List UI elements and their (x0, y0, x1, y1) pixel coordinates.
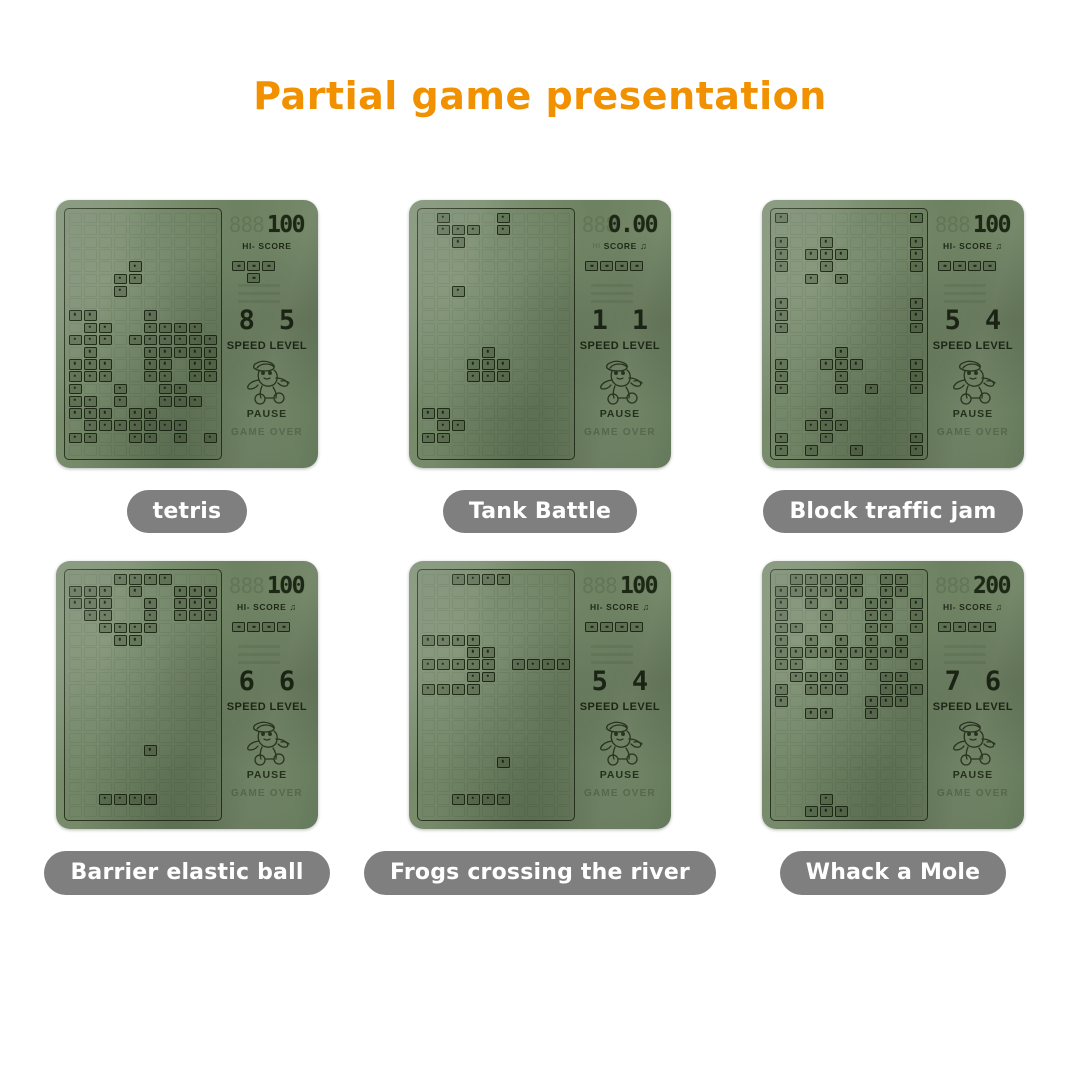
playfield-empty-cell (849, 610, 864, 622)
playfield-empty-cell (541, 408, 556, 420)
playfield-empty-cell (879, 720, 894, 732)
game-caption-pill[interactable]: Barrier elastic ball (44, 851, 329, 894)
handheld-device[interactable]: 888200HI- SCORE♫8786SPEED LEVELPAUSEGAME… (762, 561, 1024, 829)
playfield-empty-cell (864, 285, 879, 297)
playfield[interactable] (417, 569, 575, 821)
playfield-empty-cell (113, 806, 128, 818)
panel-ghost-segments (591, 645, 633, 667)
handheld-device[interactable]: 8880.00HISCORE♫8181SPEED LEVELPAUSEGAME … (409, 200, 671, 468)
playfield-empty-cell (68, 212, 83, 224)
playfield-block (894, 573, 909, 585)
playfield-empty-cell (481, 395, 496, 407)
playfield-empty-cell (879, 659, 894, 671)
playfield-empty-cell (834, 310, 849, 322)
playfield-empty-cell (83, 769, 98, 781)
playfield-empty-cell (421, 573, 436, 585)
score-label-text: HI- SCORE (590, 602, 639, 612)
game-over-indicator: GAME OVER (231, 788, 303, 799)
playfield-block (68, 395, 83, 407)
playfield-block (804, 444, 819, 456)
playfield-empty-cell (789, 634, 804, 646)
playfield-empty-cell (173, 298, 188, 310)
playfield-empty-cell (173, 732, 188, 744)
playfield-empty-cell (451, 249, 466, 261)
playfield-block (143, 334, 158, 346)
playfield-empty-cell (789, 732, 804, 744)
next-piece-block (983, 621, 997, 632)
playfield-block (496, 793, 511, 805)
playfield-empty-cell (879, 732, 894, 744)
handheld-device[interactable]: 888100HI- SCORE♫8584SPEED LEVELPAUSEGAME… (409, 561, 671, 829)
playfield-empty-cell (188, 285, 203, 297)
playfield-block (143, 359, 158, 371)
playfield-block (128, 634, 143, 646)
playfield-block (864, 647, 879, 659)
playfield-empty-cell (83, 273, 98, 285)
playfield-empty-cell (451, 212, 466, 224)
playfield-empty-cell (481, 212, 496, 224)
side-panel: 888100HI- SCORE♫8584SPEED LEVELPAUSEGAME… (928, 206, 1018, 462)
playfield-empty-cell (556, 586, 571, 598)
playfield-block (203, 432, 218, 444)
playfield-empty-cell (909, 708, 924, 720)
playfield-empty-cell (113, 781, 128, 793)
handheld-device[interactable]: 888100HI- SCORE♫8686SPEED LEVELPAUSEGAME… (56, 561, 318, 829)
playfield-empty-cell (511, 444, 526, 456)
playfield-empty-cell (203, 285, 218, 297)
playfield-empty-cell (143, 395, 158, 407)
playfield-block (834, 420, 849, 432)
playfield-empty-cell (128, 310, 143, 322)
level-ghost: 8 (985, 668, 1001, 695)
playfield-empty-cell (481, 744, 496, 756)
playfield-empty-cell (864, 720, 879, 732)
playfield-empty-cell (128, 249, 143, 261)
playfield-block (909, 683, 924, 695)
playfield-empty-cell (466, 322, 481, 334)
playfield-empty-cell (68, 285, 83, 297)
playfield-empty-cell (864, 212, 879, 224)
playfield-block (481, 647, 496, 659)
playfield-empty-cell (436, 322, 451, 334)
playfield-empty-cell (909, 720, 924, 732)
playfield-empty-cell (203, 683, 218, 695)
playfield-empty-cell (511, 273, 526, 285)
playfield-block (173, 383, 188, 395)
playfield-empty-cell (819, 696, 834, 708)
playfield-empty-cell (556, 249, 571, 261)
game-card-0[interactable]: 888100HI- SCORE8885SPEED LEVELPAUSEGAME … (52, 200, 322, 533)
next-piece-empty (600, 272, 614, 283)
panel-ghost-segments (591, 284, 633, 306)
playfield-empty-cell (436, 744, 451, 756)
playfield-empty-cell (556, 683, 571, 695)
playfield-block (909, 444, 924, 456)
playfield-block (909, 310, 924, 322)
playfield-block (128, 432, 143, 444)
playfield-empty-cell (909, 224, 924, 236)
playfield-empty-cell (68, 634, 83, 646)
playfield-empty-cell (879, 212, 894, 224)
pause-indicator: PAUSE (953, 769, 993, 781)
playfield-empty-cell (113, 444, 128, 456)
playfield-empty-cell (556, 744, 571, 756)
next-piece-block (600, 260, 614, 271)
playfield-empty-cell (774, 708, 789, 720)
playfield-empty-cell (203, 310, 218, 322)
playfield-empty-cell (158, 310, 173, 322)
playfield-empty-cell (113, 732, 128, 744)
playfield-empty-cell (466, 346, 481, 358)
playfield-empty-cell (511, 622, 526, 634)
playfield-block (774, 683, 789, 695)
game-caption-pill[interactable]: Frogs crossing the river (364, 851, 716, 894)
playfield-empty-cell (83, 634, 98, 646)
side-panel: 888100HI- SCORE♫8584SPEED LEVELPAUSEGAME… (575, 567, 665, 823)
playfield-empty-cell (819, 212, 834, 224)
playfield-empty-cell (909, 744, 924, 756)
playfield-block (128, 261, 143, 273)
playfield-empty-cell (556, 395, 571, 407)
next-piece-block (600, 621, 614, 632)
playfield-empty-cell (188, 212, 203, 224)
playfield-empty-cell (466, 696, 481, 708)
playfield-block (466, 647, 481, 659)
playfield-empty-cell (83, 261, 98, 273)
playfield-empty-cell (894, 744, 909, 756)
playfield-empty-cell (451, 444, 466, 456)
playfield-empty-cell (113, 249, 128, 261)
playfield-empty-cell (789, 793, 804, 805)
playfield-empty-cell (466, 420, 481, 432)
playfield-block (451, 634, 466, 646)
playfield-block (98, 622, 113, 634)
playfield-empty-cell (541, 298, 556, 310)
playfield-empty-cell (188, 298, 203, 310)
playfield-empty-cell (158, 432, 173, 444)
playfield-empty-cell (541, 598, 556, 610)
game-caption-pill[interactable]: Tank Battle (443, 490, 637, 533)
playfield-block (203, 359, 218, 371)
next-piece-empty (262, 272, 276, 283)
playfield-empty-cell (879, 744, 894, 756)
music-flag-icon: ♫ (995, 241, 1002, 251)
playfield-empty-cell (789, 395, 804, 407)
score-ghost-segments: 888 (935, 574, 970, 598)
speed-level-display: 8584 (933, 307, 1013, 334)
playfield-block (173, 346, 188, 358)
playfield-block (864, 634, 879, 646)
playfield-empty-cell (451, 322, 466, 334)
playfield-empty-cell (128, 757, 143, 769)
playfield[interactable] (64, 208, 222, 460)
playfield-empty-cell (496, 659, 511, 671)
playfield-empty-cell (864, 781, 879, 793)
playfield-empty-cell (496, 420, 511, 432)
game-card-2[interactable]: 888100HI- SCORE♫8584SPEED LEVELPAUSEGAME… (758, 200, 1028, 533)
playfield-empty-cell (849, 420, 864, 432)
playfield-block (128, 586, 143, 598)
playfield-empty-cell (804, 371, 819, 383)
playfield-empty-cell (173, 634, 188, 646)
playfield-empty-cell (158, 659, 173, 671)
playfield-empty-cell (188, 249, 203, 261)
playfield-empty-cell (789, 261, 804, 273)
playfield-empty-cell (496, 334, 511, 346)
playfield-empty-cell (98, 806, 113, 818)
playfield-empty-cell (421, 696, 436, 708)
playfield-empty-cell (188, 383, 203, 395)
playfield-block (819, 708, 834, 720)
playfield-empty-cell (511, 744, 526, 756)
playfield-empty-cell (541, 432, 556, 444)
playfield-empty-cell (556, 671, 571, 683)
playfield-empty-cell (83, 573, 98, 585)
playfield-block (451, 236, 466, 248)
playfield-empty-cell (879, 432, 894, 444)
game-card-4[interactable]: 888100HI- SCORE♫8584SPEED LEVELPAUSEGAME… (405, 561, 675, 894)
playfield-empty-cell (466, 744, 481, 756)
playfield-block (113, 395, 128, 407)
playfield-empty-cell (864, 334, 879, 346)
playfield-empty-cell (451, 261, 466, 273)
playfield-empty-cell (421, 769, 436, 781)
playfield-empty-cell (98, 285, 113, 297)
panel-ghost-segments (238, 645, 280, 667)
playfield[interactable] (770, 208, 928, 460)
playfield-empty-cell (909, 285, 924, 297)
playfield-block (466, 371, 481, 383)
playfield-empty-cell (203, 647, 218, 659)
playfield-block (879, 610, 894, 622)
playfield-empty-cell (436, 671, 451, 683)
playfield-empty-cell (481, 322, 496, 334)
playfield-block (849, 647, 864, 659)
playfield-empty-cell (526, 671, 541, 683)
playfield-empty-cell (451, 383, 466, 395)
playfield-empty-cell (188, 806, 203, 818)
playfield-empty-cell (556, 236, 571, 248)
playfield-empty-cell (511, 598, 526, 610)
playfield-empty-cell (556, 769, 571, 781)
playfield-empty-cell (421, 744, 436, 756)
playfield-empty-cell (819, 659, 834, 671)
playfield-empty-cell (173, 647, 188, 659)
playfield-block (451, 659, 466, 671)
playfield-empty-cell (556, 224, 571, 236)
playfield-empty-cell (864, 249, 879, 261)
playfield-empty-cell (173, 806, 188, 818)
playfield-block (143, 420, 158, 432)
playfield-empty-cell (143, 659, 158, 671)
playfield-empty-cell (526, 806, 541, 818)
playfield-block (436, 212, 451, 224)
playfield-empty-cell (83, 781, 98, 793)
handheld-device[interactable]: 888100HI- SCORE♫8584SPEED LEVELPAUSEGAME… (762, 200, 1024, 468)
playfield-empty-cell (451, 622, 466, 634)
playfield-block (909, 432, 924, 444)
playfield-block (188, 334, 203, 346)
playfield-empty-cell (436, 647, 451, 659)
playfield-empty-cell (451, 298, 466, 310)
playfield-empty-cell (511, 757, 526, 769)
playfield-empty-cell (834, 757, 849, 769)
playfield-empty-cell (556, 444, 571, 456)
playfield-block (496, 212, 511, 224)
score-label: HI- SCORE♫ (943, 241, 1003, 251)
playfield-empty-cell (421, 371, 436, 383)
playfield-empty-cell (143, 224, 158, 236)
playfield-block (864, 610, 879, 622)
score-label-text: HI- SCORE (242, 241, 291, 251)
playfield-empty-cell (203, 659, 218, 671)
playfield-empty-cell (83, 622, 98, 634)
playfield-empty-cell (864, 298, 879, 310)
playfield-empty-cell (421, 647, 436, 659)
playfield-empty-cell (496, 622, 511, 634)
playfield-block (819, 432, 834, 444)
playfield-empty-cell (113, 371, 128, 383)
playfield-empty-cell (556, 298, 571, 310)
playfield-empty-cell (834, 610, 849, 622)
playfield-empty-cell (451, 696, 466, 708)
playfield-block (83, 346, 98, 358)
playfield-empty-cell (789, 610, 804, 622)
playfield-empty-cell (789, 696, 804, 708)
playfield-block (143, 408, 158, 420)
playfield-empty-cell (526, 371, 541, 383)
playfield-empty-cell (451, 359, 466, 371)
playfield-block (83, 334, 98, 346)
playfield-empty-cell (804, 432, 819, 444)
playfield-empty-cell (188, 708, 203, 720)
playfield-empty-cell (909, 732, 924, 744)
playfield-empty-cell (774, 573, 789, 585)
game-caption-pill[interactable]: tetris (127, 490, 248, 533)
playfield-empty-cell (188, 647, 203, 659)
playfield-empty-cell (804, 793, 819, 805)
playfield-empty-cell (158, 781, 173, 793)
playfield-block (421, 659, 436, 671)
playfield-empty-cell (113, 659, 128, 671)
playfield-empty-cell (511, 371, 526, 383)
playfield-empty-cell (556, 285, 571, 297)
playfield-block (789, 671, 804, 683)
playfield-empty-cell (774, 757, 789, 769)
playfield[interactable] (64, 569, 222, 821)
playfield-empty-cell (894, 781, 909, 793)
playfield[interactable] (417, 208, 575, 460)
playfield-empty-cell (188, 781, 203, 793)
score-ghost-segments: 888 (582, 574, 617, 598)
playfield-empty-cell (834, 744, 849, 756)
playfield-empty-cell (804, 408, 819, 420)
speed-level-label: SPEED LEVEL (227, 701, 307, 713)
playfield-empty-cell (496, 671, 511, 683)
playfield-empty-cell (774, 273, 789, 285)
game-caption-pill[interactable]: Whack a Mole (780, 851, 1006, 894)
handheld-device[interactable]: 888100HI- SCORE8885SPEED LEVELPAUSEGAME … (56, 200, 318, 468)
playfield-empty-cell (128, 383, 143, 395)
playfield-empty-cell (143, 212, 158, 224)
playfield-empty-cell (849, 334, 864, 346)
playfield-empty-cell (466, 310, 481, 322)
playfield-empty-cell (849, 769, 864, 781)
playfield-empty-cell (481, 249, 496, 261)
playfield-empty-cell (113, 769, 128, 781)
game-card-1[interactable]: 8880.00HISCORE♫8181SPEED LEVELPAUSEGAME … (405, 200, 675, 533)
playfield-empty-cell (68, 757, 83, 769)
playfield-empty-cell (849, 708, 864, 720)
playfield-empty-cell (466, 298, 481, 310)
playfield-empty-cell (128, 769, 143, 781)
playfield-empty-cell (68, 261, 83, 273)
playfield-empty-cell (511, 224, 526, 236)
next-piece-block (585, 621, 599, 632)
playfield-empty-cell (421, 249, 436, 261)
playfield-block (68, 359, 83, 371)
playfield-empty-cell (879, 395, 894, 407)
playfield-empty-cell (909, 781, 924, 793)
game-card-5[interactable]: 888200HI- SCORE♫8786SPEED LEVELPAUSEGAME… (758, 561, 1028, 894)
playfield-empty-cell (894, 224, 909, 236)
playfield-block (98, 408, 113, 420)
playfield-empty-cell (894, 285, 909, 297)
playfield-empty-cell (113, 346, 128, 358)
playfield-empty-cell (541, 757, 556, 769)
playfield-block (203, 371, 218, 383)
playfield-block (834, 249, 849, 261)
speed-level-display: 8584 (580, 668, 660, 695)
playfield-empty-cell (849, 757, 864, 769)
playfield-empty-cell (68, 298, 83, 310)
playfield-block (188, 598, 203, 610)
playfield-empty-cell (894, 610, 909, 622)
playfield-empty-cell (451, 310, 466, 322)
playfield-block (143, 598, 158, 610)
playfield-empty-cell (909, 696, 924, 708)
playfield-empty-cell (526, 334, 541, 346)
playfield-block (451, 573, 466, 585)
playfield-empty-cell (864, 757, 879, 769)
playfield-empty-cell (481, 732, 496, 744)
speed-ghost: 8 (592, 307, 608, 334)
playfield-empty-cell (526, 359, 541, 371)
playfield-block (804, 647, 819, 659)
playfield-empty-cell (849, 346, 864, 358)
playfield[interactable] (770, 569, 928, 821)
playfield-empty-cell (451, 371, 466, 383)
game-caption-pill[interactable]: Block traffic jam (763, 490, 1022, 533)
playfield-empty-cell (143, 708, 158, 720)
playfield-block (158, 334, 173, 346)
playfield-empty-cell (526, 622, 541, 634)
playfield-empty-cell (849, 793, 864, 805)
playfield-empty-cell (789, 273, 804, 285)
side-panel: 888200HI- SCORE♫8786SPEED LEVELPAUSEGAME… (928, 567, 1018, 823)
game-card-3[interactable]: 888100HI- SCORE♫8686SPEED LEVELPAUSEGAME… (52, 561, 322, 894)
playfield-block (128, 273, 143, 285)
playfield-empty-cell (188, 769, 203, 781)
playfield-empty-cell (421, 720, 436, 732)
playfield-empty-cell (98, 708, 113, 720)
playfield-empty-cell (83, 757, 98, 769)
playfield-block (98, 793, 113, 805)
playfield-empty-cell (421, 598, 436, 610)
playfield-empty-cell (436, 598, 451, 610)
playfield-block (774, 371, 789, 383)
playfield-empty-cell (421, 298, 436, 310)
